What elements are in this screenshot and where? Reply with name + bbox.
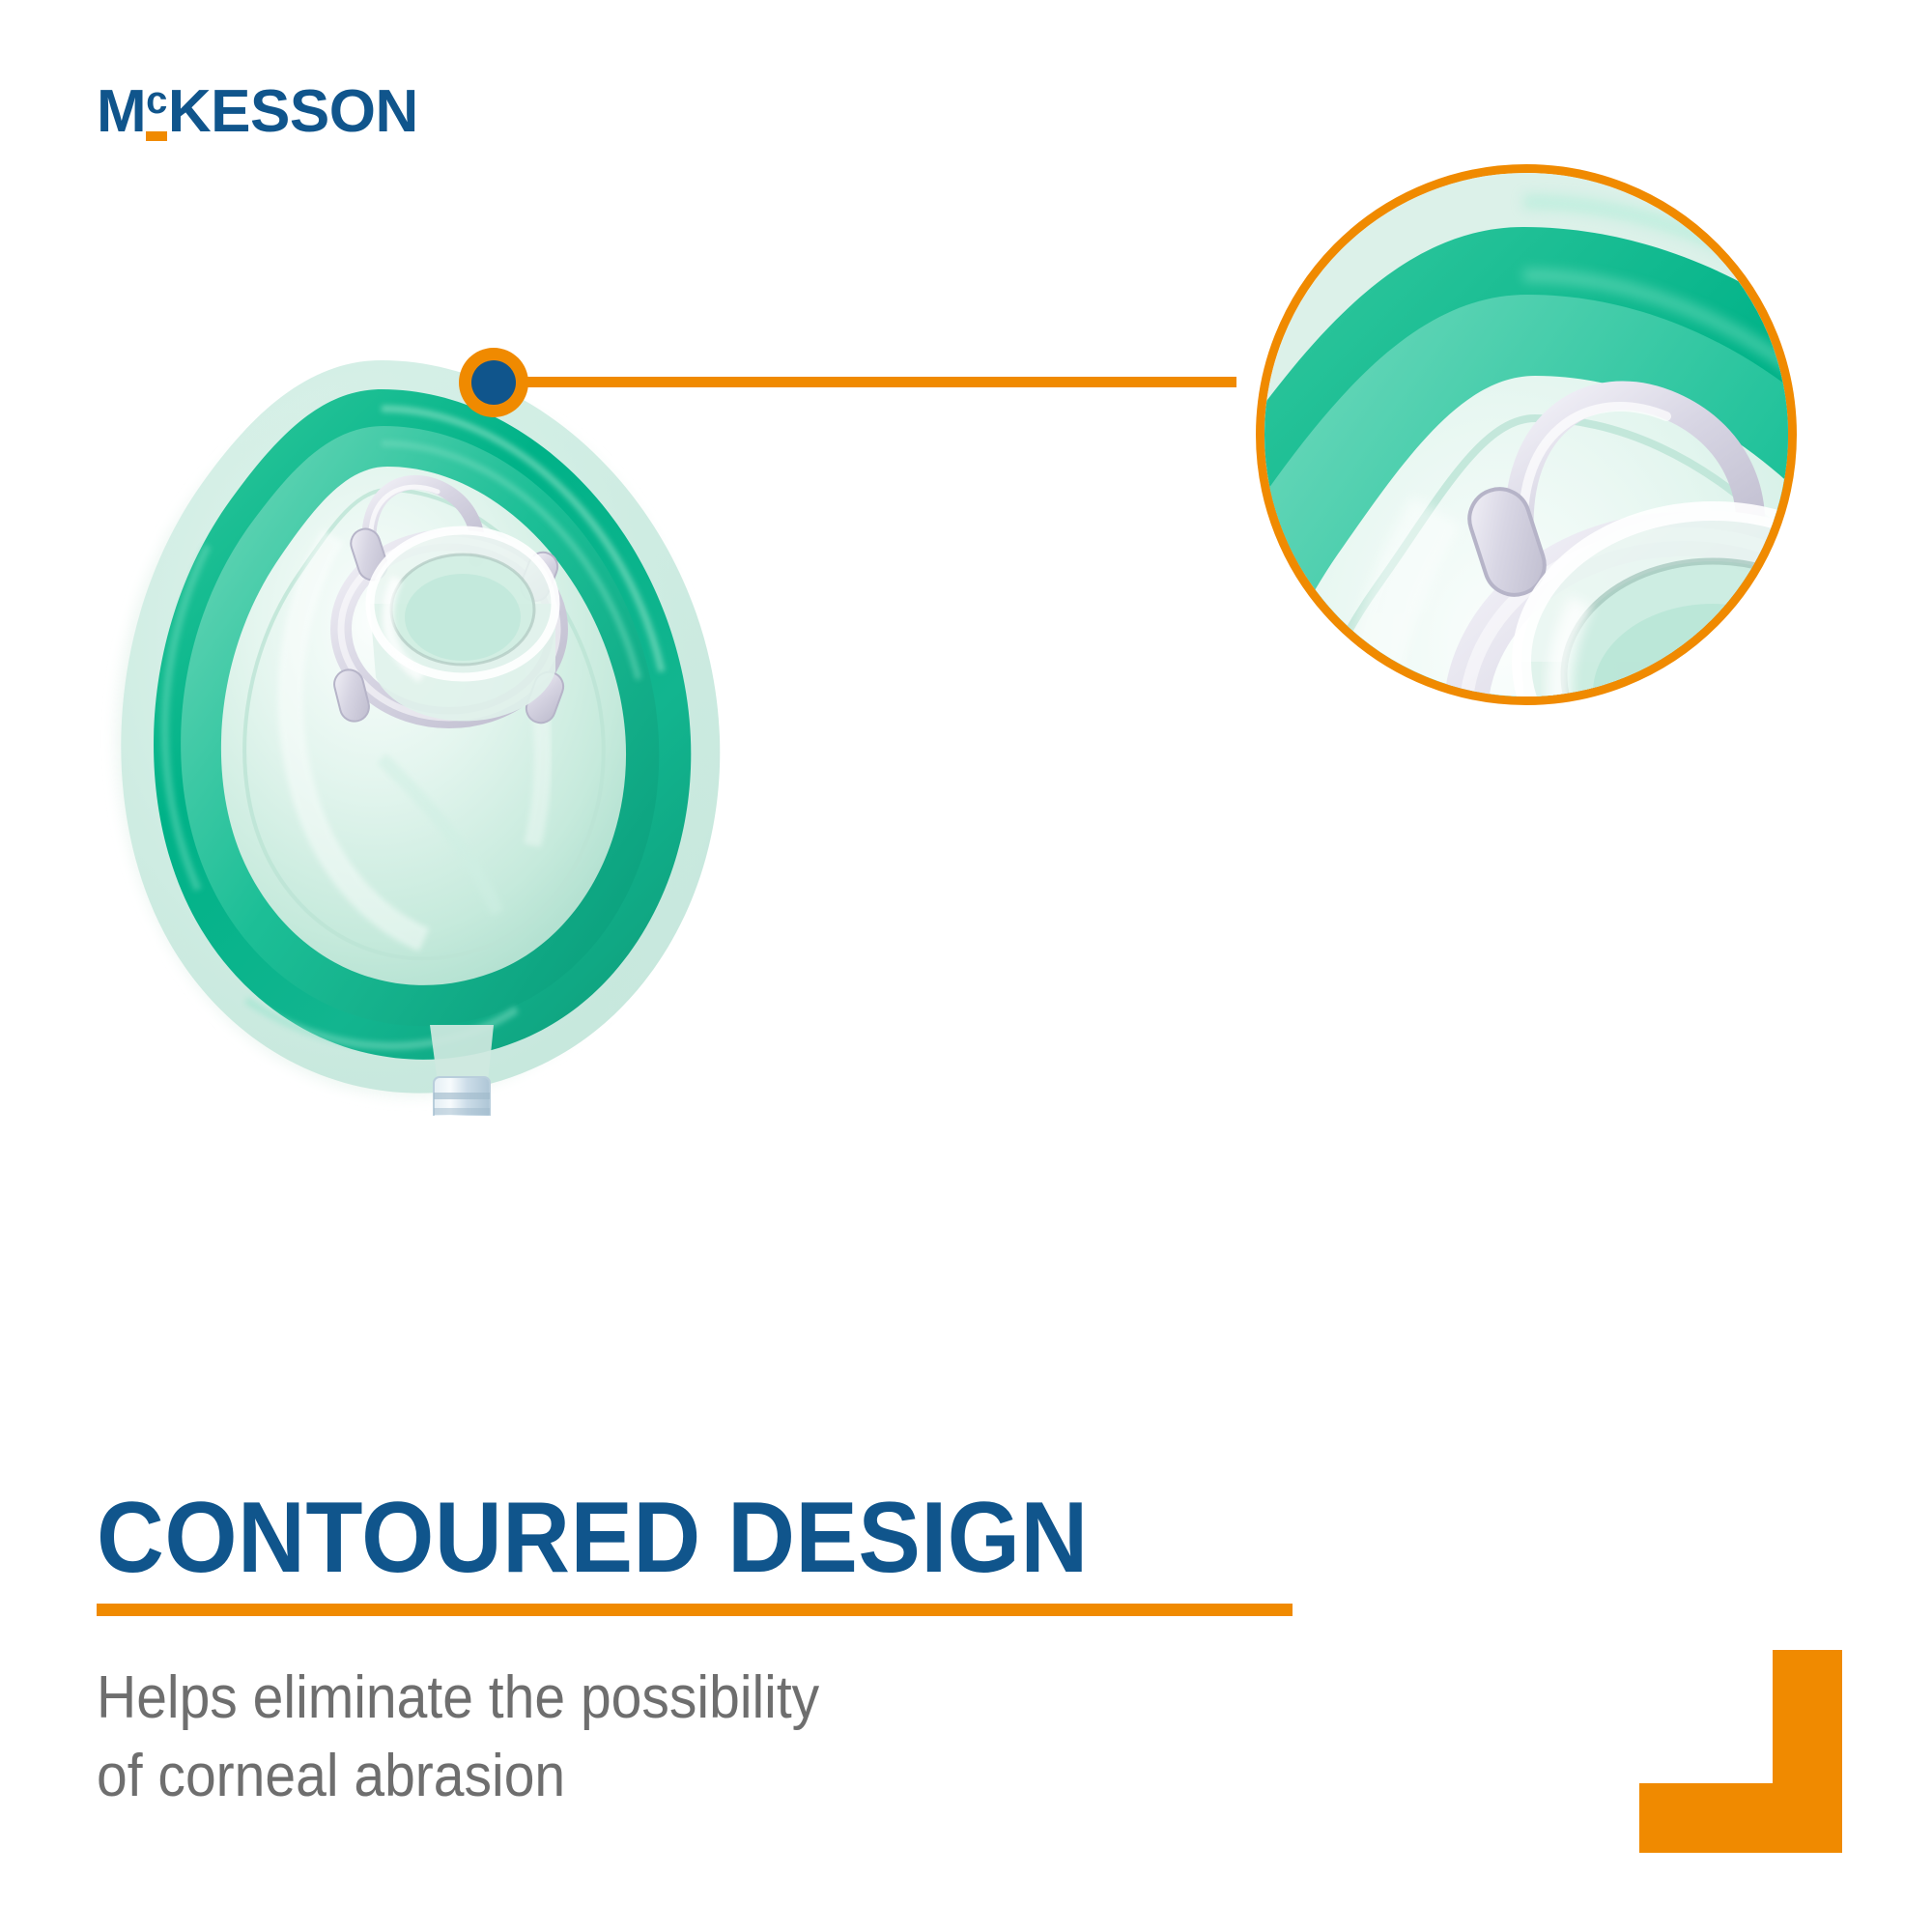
callout-marker-dot [459,348,528,417]
product-photo-stage [0,0,1932,1372]
logo-letters-kesson: KESSON [168,82,418,142]
feature-subtext: Helps eliminate the possibility of corne… [97,1660,1207,1815]
logo-orange-underscore [146,131,167,141]
callout-connector-line [502,377,1236,387]
feature-headline: CONTOURED DESIGN [97,1488,1220,1588]
feature-subtext-line-2: of corneal abrasion [97,1738,1207,1816]
corner-bracket-horizontal-bar [1639,1783,1842,1853]
logo-letter-c: c [146,82,167,119]
feature-subtext-line-1: Helps eliminate the possibility [97,1660,1207,1738]
callout-magnified-product [1256,164,1797,705]
feature-text-block: CONTOURED DESIGN Helps eliminate the pos… [97,1488,1304,1815]
logo-letter-m: M [97,82,146,142]
callout-magnifier-circle [1256,164,1797,705]
product-image-anesthesia-mask [92,343,787,1116]
orange-corner-bracket [1639,1650,1842,1853]
logo-superscript-c-group: c [146,82,167,141]
logo-wordmark: M c KESSON [97,82,418,142]
callout-marker-core [471,360,516,405]
mckesson-logo: M c KESSON [97,82,418,142]
headline-underline-rule [97,1604,1293,1616]
